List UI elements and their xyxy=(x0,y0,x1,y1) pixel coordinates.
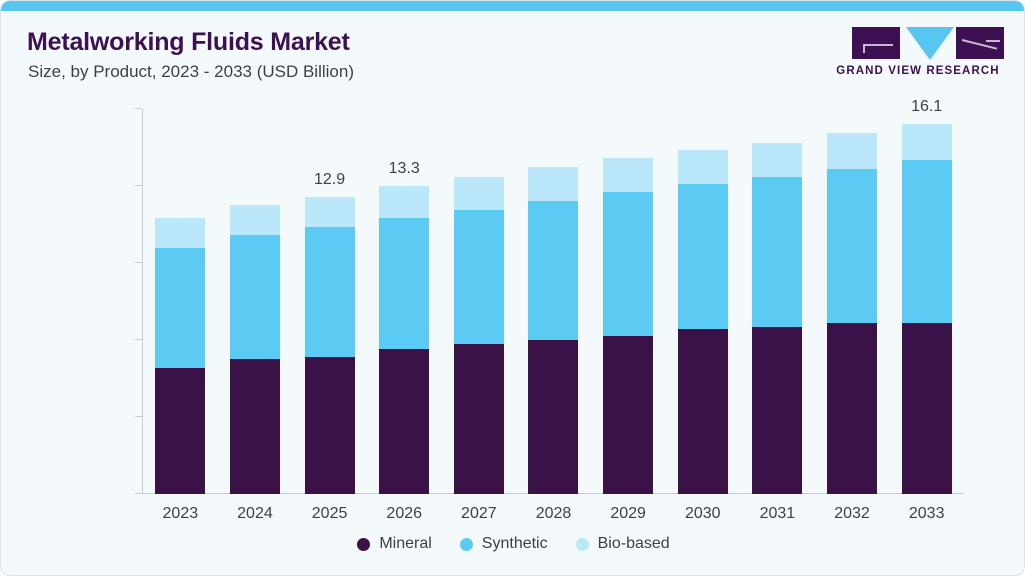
stacked-bar[interactable] xyxy=(528,167,578,494)
stacked-bar[interactable] xyxy=(678,150,728,494)
legend-item[interactable]: Mineral xyxy=(357,535,431,553)
bar-segment-synthetic[interactable] xyxy=(752,177,802,327)
bar-segment-mineral[interactable] xyxy=(155,368,205,494)
y-axis-title: Market Size (USD Billion) xyxy=(59,0,81,109)
bar-value-label: 16.1 xyxy=(911,98,942,116)
stacked-bar[interactable] xyxy=(155,218,205,494)
stacked-bar[interactable] xyxy=(752,143,802,494)
y-axis-tick xyxy=(135,108,142,109)
bar-segment-synthetic[interactable] xyxy=(230,235,280,359)
bar-segment-mineral[interactable] xyxy=(603,336,653,494)
bar-segment-biobased[interactable] xyxy=(379,186,429,218)
bar-segment-biobased[interactable] xyxy=(305,197,355,227)
bar-value-label: 12.9 xyxy=(314,171,345,189)
x-axis-tick-label: 2024 xyxy=(237,505,273,523)
legend-item[interactable]: Synthetic xyxy=(460,535,548,553)
bar-group[interactable]: 2032 xyxy=(815,109,890,494)
bar-segment-synthetic[interactable] xyxy=(678,184,728,329)
legend-label: Bio-based xyxy=(598,535,670,553)
bar-group[interactable]: 2023 xyxy=(143,109,218,494)
bar-segment-biobased[interactable] xyxy=(902,124,952,160)
x-axis-tick-label: 2025 xyxy=(312,505,348,523)
bar-segment-biobased[interactable] xyxy=(454,177,504,209)
logo-triangle-icon xyxy=(906,27,954,60)
logo-marks xyxy=(852,27,1004,61)
x-axis-tick-label: 2032 xyxy=(834,505,870,523)
chart-card: Metalworking Fluids Market Size, by Prod… xyxy=(0,0,1025,576)
bar-segment-mineral[interactable] xyxy=(902,323,952,494)
bar-segment-biobased[interactable] xyxy=(678,150,728,184)
x-axis-tick-label: 2028 xyxy=(536,505,572,523)
stacked-bar[interactable] xyxy=(902,124,952,494)
y-axis-tick xyxy=(135,416,142,417)
bar-value-label: 13.3 xyxy=(389,160,420,178)
x-axis-tick-label: 2026 xyxy=(386,505,422,523)
accent-stripe xyxy=(1,1,1025,11)
x-axis-tick-label: 2023 xyxy=(163,505,199,523)
bar-group[interactable]: 13.32026 xyxy=(367,109,442,494)
stacked-bar[interactable] xyxy=(379,186,429,494)
y-axis-tick xyxy=(135,339,142,340)
bar-group[interactable]: 2029 xyxy=(591,109,666,494)
bar-segment-synthetic[interactable] xyxy=(603,192,653,335)
chart-header: Metalworking Fluids Market Size, by Prod… xyxy=(1,11,1025,89)
bar-segment-synthetic[interactable] xyxy=(827,169,877,323)
y-axis-tick xyxy=(135,185,142,186)
bar-group[interactable]: 2027 xyxy=(442,109,517,494)
legend-label: Synthetic xyxy=(482,535,548,553)
bar-segment-biobased[interactable] xyxy=(603,158,653,192)
bar-segment-mineral[interactable] xyxy=(230,359,280,494)
legend-label: Mineral xyxy=(379,535,431,553)
bar-series-container: 2023202412.9202513.320262027202820292030… xyxy=(143,109,964,494)
bar-segment-biobased[interactable] xyxy=(155,218,205,248)
x-axis-tick-label: 2030 xyxy=(685,505,721,523)
bar-segment-synthetic[interactable] xyxy=(155,248,205,368)
stacked-bar[interactable] xyxy=(603,158,653,494)
bar-segment-synthetic[interactable] xyxy=(305,227,355,357)
legend-swatch-icon xyxy=(576,538,589,551)
bar-segment-synthetic[interactable] xyxy=(454,210,504,345)
logo-rect-right-icon xyxy=(956,27,1004,59)
bar-segment-mineral[interactable] xyxy=(678,329,728,494)
bar-group[interactable]: 2028 xyxy=(516,109,591,494)
chart-legend: MineralSyntheticBio-based xyxy=(1,535,1025,553)
legend-item[interactable]: Bio-based xyxy=(576,535,670,553)
bar-segment-mineral[interactable] xyxy=(454,344,504,494)
bar-segment-biobased[interactable] xyxy=(230,205,280,235)
bar-group[interactable]: 2024 xyxy=(218,109,293,494)
logo-wordmark: GRAND VIEW RESEARCH xyxy=(832,65,1004,77)
y-axis-tick xyxy=(135,493,142,494)
bar-segment-biobased[interactable] xyxy=(827,133,877,169)
stacked-bar[interactable] xyxy=(230,205,280,494)
plot-area: 0.03.67.210.814.418.0 2023202412.9202513… xyxy=(142,109,964,494)
logo-rect-left-icon xyxy=(852,27,900,59)
bar-segment-mineral[interactable] xyxy=(379,349,429,494)
bar-group[interactable]: 2031 xyxy=(740,109,815,494)
x-axis-tick-label: 2033 xyxy=(909,505,945,523)
bar-segment-mineral[interactable] xyxy=(827,323,877,494)
legend-swatch-icon xyxy=(357,538,370,551)
legend-swatch-icon xyxy=(460,538,473,551)
stacked-bar[interactable] xyxy=(305,197,355,494)
bar-segment-synthetic[interactable] xyxy=(528,201,578,340)
stacked-bar[interactable] xyxy=(827,133,877,494)
bar-group[interactable]: 12.92025 xyxy=(292,109,367,494)
bar-segment-mineral[interactable] xyxy=(305,357,355,494)
bar-group[interactable]: 16.12033 xyxy=(889,109,964,494)
x-axis-tick-label: 2029 xyxy=(610,505,646,523)
x-axis-tick-label: 2031 xyxy=(760,505,796,523)
bar-segment-synthetic[interactable] xyxy=(379,218,429,348)
x-axis-tick-label: 2027 xyxy=(461,505,497,523)
bar-segment-mineral[interactable] xyxy=(528,340,578,494)
bar-segment-biobased[interactable] xyxy=(528,167,578,201)
bar-segment-biobased[interactable] xyxy=(752,143,802,177)
y-axis-tick xyxy=(135,262,142,263)
bar-segment-synthetic[interactable] xyxy=(902,160,952,323)
bar-group[interactable]: 2030 xyxy=(665,109,740,494)
bar-segment-mineral[interactable] xyxy=(752,327,802,494)
stacked-bar[interactable] xyxy=(454,177,504,494)
grand-view-research-logo: GRAND VIEW RESEARCH xyxy=(832,27,1004,85)
